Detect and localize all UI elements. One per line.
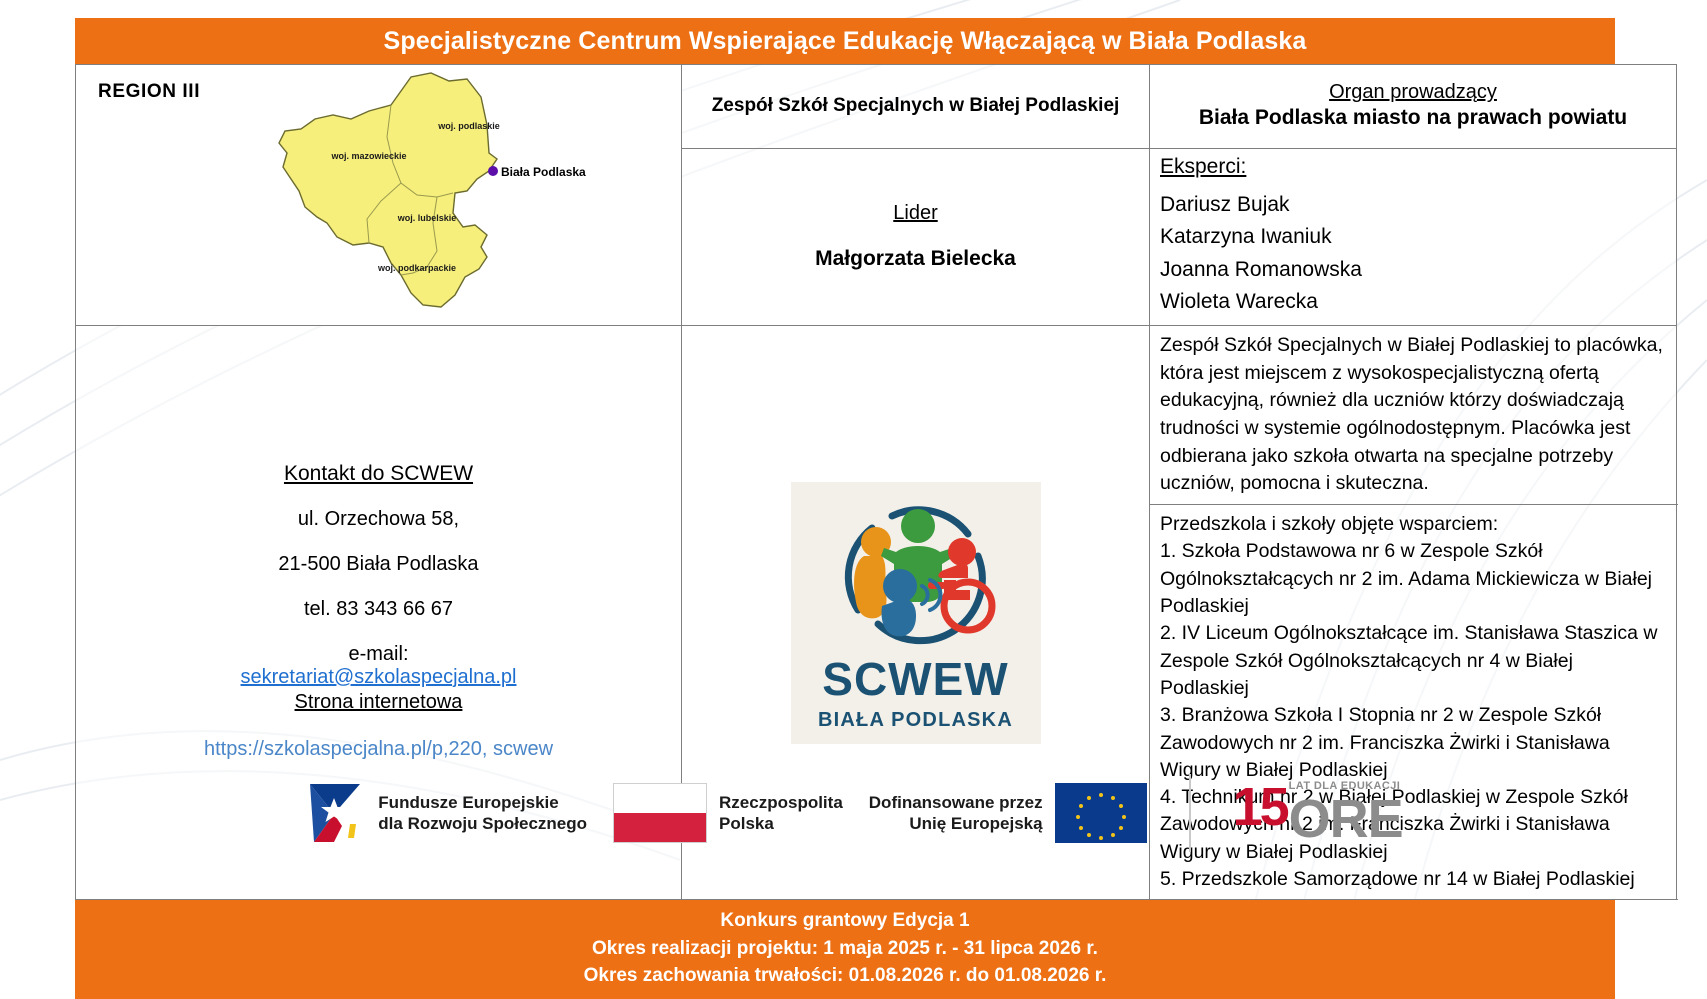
- supported-heading: Przedszkola i szkoły objęte wsparciem:: [1160, 511, 1666, 538]
- scwew-emblem-icon: [818, 494, 1014, 652]
- logo-divider: [1189, 774, 1191, 852]
- footer-line-1: Konkurs grantowy Edycja 1: [75, 907, 1615, 935]
- map-city-label: Biała Podlaska: [501, 165, 586, 179]
- ore-anniversary-number: 15: [1233, 780, 1287, 834]
- contact-heading: Kontakt do SCWEW: [86, 462, 671, 486]
- contact-street: ul. Orzechowa 58,: [86, 508, 671, 531]
- funduszeeuropejskie-logo: Fundusze Europejskie dla Rozwoju Społecz…: [304, 780, 587, 846]
- organ-cell: Organ prowadzący Biała Podlaska miasto n…: [1150, 65, 1677, 149]
- project-info-bar: Konkurs grantowy Edycja 1 Okres realizac…: [75, 900, 1615, 999]
- scwew-logo: SCWEW BIAŁA PODLASKA: [791, 482, 1041, 744]
- map-city-marker: [488, 166, 498, 176]
- poland-region-map: woj. podlaskie woj. mazowieckie woj. lub…: [241, 67, 641, 313]
- contact-city: 21-500 Biała Podlaska: [86, 553, 671, 576]
- contact-website-label: Strona internetowa: [86, 691, 671, 714]
- ore-logo: 15 LAT DLA EDUKACJI ORE: [1233, 780, 1403, 846]
- eu-flag-icon: [1055, 783, 1147, 843]
- map-label-mazowieckie: woj. mazowieckie: [330, 151, 406, 161]
- list-item: Wioleta Warecka: [1160, 286, 1666, 319]
- fe-line2: dla Rozwoju Społecznego: [378, 813, 587, 834]
- fundusze-europejskie-label: Fundusze Europejskie dla Rozwoju Społecz…: [378, 792, 587, 835]
- region-map-cell: REGION III woj. podlaskie woj. mazowieck…: [76, 65, 682, 326]
- experts-heading: Eksperci:: [1160, 155, 1666, 179]
- poland-flag-icon: [613, 783, 707, 843]
- contact-email-link[interactable]: sekretariat@szkolaspecjalna.pl: [86, 666, 671, 689]
- organ-heading: Organ prowadzący: [1160, 81, 1666, 104]
- region-label: REGION III: [98, 81, 200, 103]
- scwew-logo-subtitle: BIAŁA PODLASKA: [818, 709, 1013, 732]
- fundusze-europejskie-icon: [304, 780, 366, 846]
- rp-line2: Polska: [719, 813, 843, 834]
- contact-phone: tel. 83 343 66 67: [86, 598, 671, 621]
- leader-cell: Lider Małgorzata Bielecka: [682, 148, 1150, 325]
- table-row: Kontakt do SCWEW ul. Orzechowa 58, 21-50…: [76, 326, 1677, 505]
- experts-list: Dariusz Bujak Katarzyna Iwaniuk Joanna R…: [1160, 189, 1666, 319]
- list-item: Joanna Romanowska: [1160, 254, 1666, 287]
- page-title: Specjalistyczne Centrum Wspierające Eduk…: [75, 18, 1615, 64]
- eu-line2: Unię Europejską: [869, 813, 1043, 834]
- map-label-lubelskie: woj. lubelskie: [397, 213, 457, 223]
- contact-email-label: e-mail:: [86, 643, 671, 666]
- funding-logo-strip: Fundusze Europejskie dla Rozwoju Społecz…: [0, 748, 1707, 878]
- organ-value: Biała Podlaska miasto na prawach powiatu: [1160, 104, 1666, 131]
- ore-wordmark: ORE: [1289, 789, 1403, 849]
- experts-cell: Eksperci: Dariusz Bujak Katarzyna Iwaniu…: [1150, 148, 1677, 325]
- map-label-podlaskie: woj. podlaskie: [437, 121, 500, 131]
- eu-line1: Dofinansowane przez: [869, 792, 1043, 813]
- list-item: 2. IV Liceum Ogólnokształcące im. Stanis…: [1160, 620, 1666, 702]
- rp-line1: Rzeczpospolita: [719, 792, 843, 813]
- leader-name: Małgorzata Bielecka: [692, 247, 1139, 271]
- map-label-podkarpackie: woj. podkarpackie: [377, 263, 456, 273]
- footer-line-2: Okres realizacji projektu: 1 maja 2025 r…: [75, 935, 1615, 963]
- rzeczpospolita-polska-logo: Rzeczpospolita Polska: [613, 783, 843, 843]
- eu-funding-label: Dofinansowane przez Unię Europejską: [869, 792, 1043, 835]
- table-row: REGION III woj. podlaskie woj. mazowieck…: [76, 65, 1677, 149]
- description-text: Zespół Szkół Specjalnych w Białej Podlas…: [1160, 332, 1666, 498]
- list-item: Katarzyna Iwaniuk: [1160, 221, 1666, 254]
- rzeczpospolita-label: Rzeczpospolita Polska: [719, 792, 843, 835]
- description-cell: Zespół Szkół Specjalnych w Białej Podlas…: [1150, 326, 1677, 505]
- school-name-cell: Zespół Szkół Specjalnych w Białej Podlas…: [682, 65, 1150, 149]
- list-item: Dariusz Bujak: [1160, 189, 1666, 222]
- footer-line-3: Okres zachowania trwałości: 01.08.2026 r…: [75, 962, 1615, 990]
- leader-heading: Lider: [692, 202, 1139, 225]
- european-union-logo: Dofinansowane przez Unię Europejską: [869, 783, 1147, 843]
- scwew-logo-wordmark: SCWEW: [822, 656, 1008, 702]
- fe-line1: Fundusze Europejskie: [378, 792, 587, 813]
- list-item: 1. Szkoła Podstawowa nr 6 w Zespole Szkó…: [1160, 538, 1666, 620]
